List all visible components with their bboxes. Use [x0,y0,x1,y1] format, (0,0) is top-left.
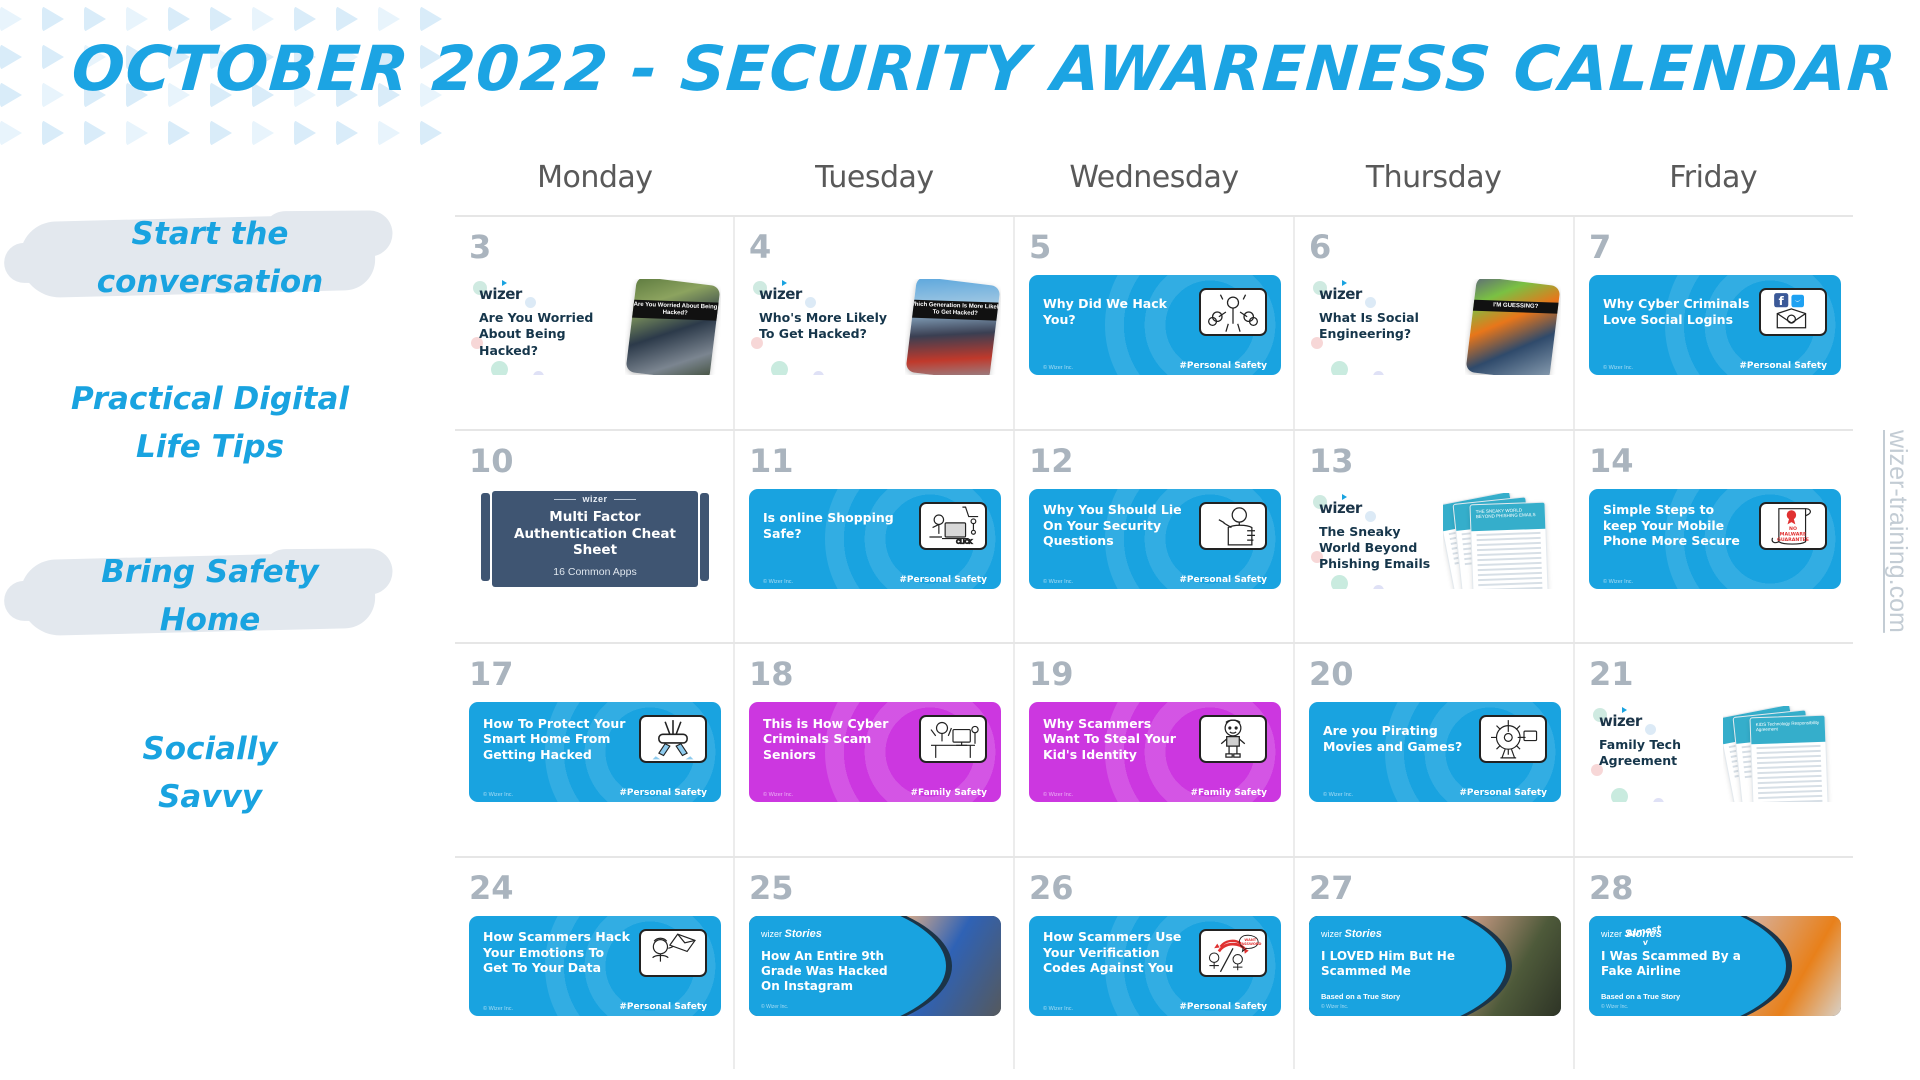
play-tick-icon [1342,280,1347,286]
wizer-logo: wizer [759,285,802,303]
document-stack: KIDS Technology Responsibility Agreement [1723,708,1841,802]
row-label-1: Start theconversation [30,210,390,306]
wizer-logo: wizer [1319,499,1362,517]
card-main: Why Cyber Criminals Love Social Logins f [1603,288,1827,336]
card-footer: © Wizer Inc. #Personal Safety [1043,575,1267,585]
copyright-text: © Wizer Inc. [763,579,793,585]
calendar-day-27[interactable]: 27 wizer Stories I LOVED Him But He Scam… [1295,858,1575,1070]
card-title: Why Scammers Want To Steal Your Kid's Id… [1043,716,1191,763]
senior-at-desk-icon [919,715,987,763]
copyright-text: © Wizer Inc. [1043,365,1073,371]
doc-text-line [1756,745,1820,749]
row-label-line1: Practical Digital [30,375,390,423]
doc-text-line [1757,765,1821,769]
card-title: How An Entire 9th Grade Was Hacked On In… [761,949,909,995]
cheat-sheet-cover: wizer Multi Factor Authentication Cheat … [492,491,699,587]
story-text-block: wizer Stories How An Entire 9th Grade Wa… [749,916,915,1016]
pattern-dot-icon [168,120,190,146]
content-card[interactable]: Simple Steps to keep Your Mobile Phone M… [1589,489,1841,589]
svg-text:f: f [1779,294,1785,308]
document-stack: THE SNEAKY WORLD BEYOND PHISHING EMAILS [1443,495,1561,589]
row-label-2: Practical DigitalLife Tips [30,375,390,471]
binder-spine-right [700,493,709,581]
doc-text-line [1478,571,1542,575]
doc-heading: KIDS Technology Responsibility Agreement [1750,716,1825,737]
thumbnail-caption: Which Generation Is More Likely To Get H… [907,299,1000,320]
calendar-day-12[interactable]: 12 Why You Should Lie On Your Security Q… [1015,431,1295,643]
content-card[interactable]: Why You Should Lie On Your Security Ques… [1029,489,1281,589]
hashtag-tag: #Family Safety [910,788,987,798]
content-card[interactable]: wizer Multi Factor Authentication Cheat … [469,489,721,589]
pattern-dot-icon [126,6,148,32]
day-card-wrapper: wizer The Sneaky World Beyond Phishing E… [1309,489,1561,639]
pattern-dot-icon [294,120,316,146]
content-card[interactable]: wizer Are You Worried About Being Hacked… [469,275,721,375]
content-card[interactable]: How Scammers Hack Your Emotions To Get T… [469,916,721,1016]
card-main: Are you Pirating Movies and Games? [1323,715,1547,763]
promo-text-block: wizer Are You Worried About Being Hacked… [469,279,625,375]
content-card[interactable]: Why Scammers Want To Steal Your Kid's Id… [1029,702,1281,802]
card-title: How To Protect Your Smart Home From Gett… [483,716,631,763]
copyright-text: © Wizer Inc. [1601,1004,1749,1010]
doc-text-line [1757,750,1821,754]
wizer-wordmark: wizer [759,285,802,303]
card-main: How Scammers Hack Your Emotions To Get T… [483,929,707,977]
card-main: Why Did We Hack You? [1043,288,1267,336]
doc-text-line [1476,531,1540,535]
card-main: Is online Shopping Safe? CLICK [763,502,987,550]
calendar-day-20[interactable]: 20 Are you Pirating Movies and Games? © … [1295,644,1575,856]
doc-text-line [1757,755,1821,759]
copyright-text: © Wizer Inc. [763,792,793,798]
content-card[interactable]: wizer Who's More Likely To Get Hacked? W… [749,275,1001,375]
binder-spine-left [481,493,490,581]
pattern-dot-icon [84,6,106,32]
copyright-text: © Wizer Inc. [1603,365,1633,371]
doc-sheet-front: KIDS Technology Responsibility Agreement [1749,715,1828,802]
card-subtitle: 16 Common Apps [553,566,636,578]
card-title: How Scammers Use Your Verification Codes… [1043,929,1191,976]
play-tick-icon [1622,707,1627,713]
copyright-text: © Wizer Inc. [483,1006,513,1012]
site-url-watermark: wizer-training.com [1883,430,1912,633]
svg-text:PASSWORD: PASSWORD [1239,942,1261,946]
no-malware-guarantee-icon: NOMALWAREGUARANTEE [1759,502,1827,550]
day-card-wrapper: Why Cyber Criminals Love Social Logins f… [1589,275,1841,425]
svg-text:CLICK: CLICK [956,539,972,545]
wizer-stories-logo: wizer Stories [1601,928,1749,940]
story-footer: Based on a True Story © Wizer Inc. [1601,992,1749,1010]
weekday-header-friday: Friday [1573,160,1853,210]
card-footer: © Wizer Inc. #Personal Safety [483,788,707,798]
card-footer: © Wizer Inc. #Personal Safety [483,1002,707,1012]
video-thumbnail: Are You Worried About Being Hacked? [625,279,720,375]
day-number: 18 [749,658,1001,690]
hashtag-tag: #Personal Safety [1739,361,1827,371]
calendar-day-14[interactable]: 14 Simple Steps to keep Your Mobile Phon… [1575,431,1853,643]
doc-text-line [1758,790,1822,794]
pattern-dot-icon [0,120,22,146]
content-card[interactable]: How To Protect Your Smart Home From Gett… [469,702,721,802]
hashtag-tag: #Personal Safety [899,575,987,585]
wizer-logo: wizer [1319,285,1362,303]
day-card-wrapper: Are you Pirating Movies and Games? © Wiz… [1309,702,1561,852]
day-card-wrapper: Is online Shopping Safe? CLICK © Wizer I… [749,489,1001,639]
card-main: Simple Steps to keep Your Mobile Phone M… [1603,502,1827,550]
pattern-dot-icon [252,6,274,32]
day-number: 24 [469,872,721,904]
content-card[interactable]: wizer Stories How An Entire 9th Grade Wa… [749,916,1001,1016]
content-card[interactable]: Why Did We Hack You? © Wizer Inc. #Perso… [1029,275,1281,375]
doc-text-line [1477,541,1541,545]
doc-text-line [1758,795,1822,799]
page-title: OCTOBER 2022 - SECURITY AWARENESS CALEND… [69,32,1898,105]
doc-text-line [1758,775,1822,779]
hashtag-tag: #Personal Safety [619,788,707,798]
card-title: The Sneaky World Beyond Phishing Emails [1319,524,1439,573]
day-card-wrapper: wizer What Is Social Engineering? I'M GU… [1309,275,1561,425]
promo-thumb-area: I'M GUESSING? [1465,279,1561,375]
card-footer: © Wizer Inc. #Personal Safety [1043,361,1267,371]
pattern-dot-icon [0,44,22,70]
calendar-day-28[interactable]: 28 wizer Stories AlmostvI Was Scammed By… [1575,858,1853,1070]
calendar-day-3[interactable]: 3 wizer Are You Worried About Being Hack… [455,217,735,429]
calendar-grid: 3 wizer Are You Worried About Being Hack… [455,215,1853,1069]
card-footer: © Wizer Inc. [1603,579,1827,585]
svg-text:GUARANTEE: GUARANTEE [1777,536,1809,542]
card-title: What Is Social Engineering? [1319,310,1461,343]
promo-doc-area: THE SNEAKY WORLD BEYOND PHISHING EMAILS [1443,493,1561,589]
card-main: Why You Should Lie On Your Security Ques… [1043,502,1267,550]
wizer-wordmark: wizer [1599,712,1642,730]
play-tick-icon [502,280,507,286]
day-card-wrapper: How To Protect Your Smart Home From Gett… [469,702,721,852]
day-number: 7 [1589,231,1841,263]
pattern-dot-icon [294,6,316,32]
promo-text-block: wizer The Sneaky World Beyond Phishing E… [1309,493,1443,589]
card-footer: © Wizer Inc. #Personal Safety [1043,1002,1267,1012]
wizer-wordmark: wizer [1319,285,1362,303]
day-number: 25 [749,872,1001,904]
day-number: 13 [1309,445,1561,477]
wizer-wordmark: wizer [1321,929,1342,939]
day-card-wrapper: wizer Stories AlmostvI Was Scammed By a … [1589,916,1841,1066]
card-title: Why Cyber Criminals Love Social Logins [1603,296,1751,327]
card-footer: © Wizer Inc. #Personal Safety [763,575,987,585]
svg-text:NO: NO [1789,525,1797,531]
day-number: 20 [1309,658,1561,690]
play-tick-icon [782,280,787,286]
day-card-wrapper: wizer Stories I LOVED Him But He Scammed… [1309,916,1561,1066]
card-title: Are you Pirating Movies and Games? [1323,723,1471,754]
pattern-dot-icon [336,6,358,32]
thumbnail-caption: Are You Worried About Being Hacked? [627,299,720,320]
card-title: Simple Steps to keep Your Mobile Phone M… [1603,502,1751,549]
pattern-dot-icon [42,6,64,32]
day-number: 3 [469,231,721,263]
day-number: 11 [749,445,1001,477]
content-card[interactable]: wizer What Is Social Engineering? I'M GU… [1309,275,1561,375]
content-card[interactable]: This is How Cyber Criminals Scam Seniors… [749,702,1001,802]
calendar-day-7[interactable]: 7 Why Cyber Criminals Love Social Logins… [1575,217,1853,429]
weekday-header-thursday: Thursday [1294,160,1574,210]
story-footer: © Wizer Inc. [761,1001,909,1010]
doc-text-line [1478,576,1542,580]
pattern-dot-icon [420,120,442,146]
copyright-text: © Wizer Inc. [761,1004,909,1010]
promo-text-block: wizer Who's More Likely To Get Hacked? [749,279,905,375]
stories-wordmark: Stories [785,928,822,940]
content-card[interactable]: wizer Stories I LOVED Him But He Scammed… [1309,916,1561,1016]
day-number: 21 [1589,658,1841,690]
card-footer: © Wizer Inc. #Personal Safety [1323,788,1547,798]
router-icon [639,715,707,763]
video-thumbnail: Which Generation Is More Likely To Get H… [905,279,1000,375]
pattern-dot-icon [210,6,232,32]
promo-text-block: wizer Family Tech Agreement [1589,706,1723,802]
calendar-day-25[interactable]: 25 wizer Stories How An Entire 9th Grade… [735,858,1015,1070]
day-card-wrapper: wizer Family Tech Agreement KIDS Technol… [1589,702,1841,852]
doc-text-line [1477,546,1541,550]
doc-header-band: THE SNEAKY WORLD BEYOND PHISHING EMAILS [1470,502,1545,531]
pattern-dot-icon [420,6,442,32]
card-main: Why Scammers Want To Steal Your Kid's Id… [1043,715,1267,763]
day-card-wrapper: How Scammers Use Your Verification Codes… [1029,916,1281,1066]
doc-text-line [1478,586,1542,588]
calendar-day-18[interactable]: 18 This is How Cyber Criminals Scam Seni… [735,644,1015,856]
day-card-wrapper: wizer Are You Worried About Being Hacked… [469,275,721,425]
social-logins-icon: f [1759,288,1827,336]
calendar-day-11[interactable]: 11 Is online Shopping Safe? CLICK © Wize… [735,431,1015,643]
copyright-text: © Wizer Inc. [1043,579,1073,585]
calendar-week-row: 3 wizer Are You Worried About Being Hack… [455,217,1853,431]
copyright-text: © Wizer Inc. [1323,792,1353,798]
doc-text-line [1757,770,1821,774]
person-cheering-icon [1199,288,1267,336]
day-number: 12 [1029,445,1281,477]
hashtag-tag: #Personal Safety [1179,1002,1267,1012]
calendar-day-4[interactable]: 4 wizer Who's More Likely To Get Hacked?… [735,217,1015,429]
card-title: Who's More Likely To Get Hacked? [759,310,901,343]
play-tick-icon [1342,494,1347,500]
day-card-wrapper: Simple Steps to keep Your Mobile Phone M… [1589,489,1841,639]
pattern-dot-icon [84,120,106,146]
day-card-wrapper: wizer Stories How An Entire 9th Grade Wa… [749,916,1001,1066]
dot-pattern-row [0,114,470,152]
card-main: How Scammers Use Your Verification Codes… [1043,929,1267,977]
card-title: This is How Cyber Criminals Scam Seniors [763,716,911,763]
calendar-week-row: 24 How Scammers Hack Your Emotions To Ge… [455,858,1853,1070]
copyright-text: © Wizer Inc. [483,792,513,798]
story-title-text: I LOVED Him But He Scammed Me [1321,949,1455,978]
child-icon [1199,715,1267,763]
row-label-line1: Bring Safety [30,548,390,596]
calendar-day-6[interactable]: 6 wizer What Is Social Engineering? I'M … [1295,217,1575,429]
content-card[interactable]: Are you Pirating Movies and Games? © Wiz… [1309,702,1561,802]
wizer-stories-logo: wizer Stories [761,928,909,940]
card-footer: © Wizer Inc. #Personal Safety [1603,361,1827,371]
day-card-wrapper: wizer Who's More Likely To Get Hacked? W… [749,275,1001,425]
day-number: 4 [749,231,1001,263]
wizer-wordmark: wizer [1601,929,1622,939]
day-number: 26 [1029,872,1281,904]
day-card-wrapper: This is How Cyber Criminals Scam Seniors… [749,702,1001,852]
copyright-text: © Wizer Inc. [1043,792,1073,798]
wizer-wordmark: wizer [761,929,782,939]
hashtag-tag: #Personal Safety [619,1002,707,1012]
row-label-line1: Start the [30,210,390,258]
pattern-dot-icon [42,44,64,70]
card-subtitle: Based on a True Story [1321,992,1469,1001]
story-text-block: wizer Stories AlmostvI Was Scammed By a … [1589,916,1755,1016]
card-footer: © Wizer Inc. #Family Safety [763,788,987,798]
card-title: Multi Factor Authentication Cheat Sheet [500,509,691,558]
pattern-dot-icon [336,120,358,146]
card-footer: © Wizer Inc. #Family Safety [1043,788,1267,798]
promo-thumb-area: Are You Worried About Being Hacked? [625,279,721,375]
doc-text-line [1757,760,1821,764]
calendar-week-row: 17 How To Protect Your Smart Home From G… [455,644,1853,858]
pirate-wheel-icon [1479,715,1547,763]
calendar-day-5[interactable]: 5 Why Did We Hack You? © Wizer Inc. #Per… [1015,217,1295,429]
calendar-day-21[interactable]: 21 wizer Family Tech Agreement KIDS Tech… [1575,644,1853,856]
doc-text-line [1477,536,1541,540]
day-number: 14 [1589,445,1841,477]
story-title-text: How An Entire 9th Grade Was Hacked On In… [761,949,888,994]
day-card-wrapper: Why Did We Hack You? © Wizer Inc. #Perso… [1029,275,1281,425]
pattern-dot-icon [0,82,22,108]
online-shopping-icon: CLICK [919,502,987,550]
pattern-dot-icon [378,6,400,32]
row-label-line1: Socially [30,725,390,773]
card-title: Why Did We Hack You? [1043,296,1191,327]
row-label-line2: Savvy [30,773,390,821]
promo-text-block: wizer What Is Social Engineering? [1309,279,1465,375]
content-card[interactable]: How Scammers Use Your Verification Codes… [1029,916,1281,1016]
content-card[interactable]: wizer The Sneaky World Beyond Phishing E… [1309,489,1561,589]
calendar-day-26[interactable]: 26 How Scammers Use Your Verification Co… [1015,858,1295,1070]
doc-text-line [1477,556,1541,560]
day-card-wrapper: How Scammers Hack Your Emotions To Get T… [469,916,721,1066]
day-number: 28 [1589,872,1841,904]
card-title: I LOVED Him But He Scammed Me [1321,949,1469,980]
card-title: How Scammers Hack Your Emotions To Get T… [483,929,631,976]
pattern-dot-icon [252,120,274,146]
pattern-dot-icon [42,82,64,108]
row-label-line2: Home [30,596,390,644]
copyright-text: © Wizer Inc. [1603,579,1633,585]
copyright-text: © Wizer Inc. [1043,1006,1073,1012]
card-title: Are You Worried About Being Hacked? [479,310,621,359]
doc-sheet-front: THE SNEAKY WORLD BEYOND PHISHING EMAILS [1469,501,1548,588]
hashtag-tag: #Family Safety [1190,788,1267,798]
pattern-dot-icon [126,120,148,146]
wizer-logo: wizer [1599,712,1642,730]
hashtag-tag: #Personal Safety [1459,788,1547,798]
card-main: This is How Cyber Criminals Scam Seniors [763,715,987,763]
card-title: Family Tech Agreement [1599,737,1719,770]
row-label-3: Bring SafetyHome [30,548,390,644]
pattern-dot-icon [0,6,22,32]
hashtag-tag: #Personal Safety [1179,361,1267,371]
wizer-logo: wizer [554,494,635,504]
card-title: AlmostvI Was Scammed By a Fake Airline [1601,949,1749,980]
calendar-day-10[interactable]: 10 wizer Multi Factor Authentication Che… [455,431,735,643]
day-number: 17 [469,658,721,690]
svg-text:MALWARE: MALWARE [1780,531,1806,537]
doc-text-line [1758,780,1822,784]
row-label-line2: conversation [30,258,390,306]
doc-header-band: KIDS Technology Responsibility Agreement [1750,716,1825,745]
pattern-dot-icon [168,6,190,32]
weekday-header-monday: Monday [455,160,735,210]
day-number: 19 [1029,658,1281,690]
promo-doc-area: KIDS Technology Responsibility Agreement [1723,706,1841,802]
pattern-dot-icon [210,120,232,146]
day-number: 6 [1309,231,1561,263]
story-title-text: I Was Scammed By a Fake Airline [1601,949,1741,978]
pattern-dot-icon [378,120,400,146]
weekday-header-tuesday: Tuesday [735,160,1015,210]
row-label-4: SociallySavvy [30,725,390,821]
card-title: Why You Should Lie On Your Security Ques… [1043,502,1191,549]
wizer-wordmark: wizer [582,494,607,504]
doc-heading: THE SNEAKY WORLD BEYOND PHISHING EMAILS [1470,502,1545,523]
calendar-day-17[interactable]: 17 How To Protect Your Smart Home From G… [455,644,735,856]
day-card-wrapper: wizer Multi Factor Authentication Cheat … [469,489,721,639]
doc-text-line [1478,581,1542,585]
doc-text-line [1758,785,1822,789]
card-subtitle: Based on a True Story [1601,992,1749,1001]
day-card-wrapper: Why You Should Lie On Your Security Ques… [1029,489,1281,639]
wizer-stories-logo: wizer Stories [1321,928,1469,940]
hashtag-tag: #Personal Safety [1179,575,1267,585]
wizer-wordmark: wizer [479,285,522,303]
calendar-week-row: 10 wizer Multi Factor Authentication Che… [455,431,1853,645]
doc-text-line [1478,561,1542,565]
verification-code-icon: WANTPASSWORD [1199,929,1267,977]
copyright-text: © Wizer Inc. [1321,1004,1469,1010]
content-card[interactable]: Is online Shopping Safe? CLICK © Wizer I… [749,489,1001,589]
day-number: 10 [469,445,721,477]
row-label-line2: Life Tips [30,423,390,471]
wizer-wordmark: wizer [1319,499,1362,517]
pattern-dot-icon [42,120,64,146]
story-text-block: wizer Stories I LOVED Him But He Scammed… [1309,916,1475,1016]
content-card[interactable]: wizer Stories AlmostvI Was Scammed By a … [1589,916,1841,1016]
wizer-logo: wizer [479,285,522,303]
doc-text-line [1478,566,1542,570]
thumbnail-caption: I'M GUESSING? [1468,299,1561,313]
calendar-day-24[interactable]: 24 How Scammers Hack Your Emotions To Ge… [455,858,735,1070]
day-number: 27 [1309,872,1561,904]
day-number: 5 [1029,231,1281,263]
content-card[interactable]: Why Cyber Criminals Love Social Logins f… [1589,275,1841,375]
emotional-email-icon [639,929,707,977]
person-writing-icon [1199,502,1267,550]
stories-wordmark: Stories [1345,928,1382,940]
calendar-day-13[interactable]: 13 wizer The Sneaky World Beyond Phishin… [1295,431,1575,643]
story-footer: Based on a True Story © Wizer Inc. [1321,992,1469,1010]
weekday-header: MondayTuesdayWednesdayThursdayFriday [455,160,1853,210]
calendar-day-19[interactable]: 19 Why Scammers Want To Steal Your Kid's… [1015,644,1295,856]
doc-text-line [1758,800,1822,802]
weekday-header-wednesday: Wednesday [1014,160,1294,210]
day-card-wrapper: Why Scammers Want To Steal Your Kid's Id… [1029,702,1281,852]
content-card[interactable]: wizer Family Tech Agreement KIDS Technol… [1589,702,1841,802]
card-title: Is online Shopping Safe? [763,510,911,541]
video-thumbnail: I'M GUESSING? [1465,279,1560,375]
